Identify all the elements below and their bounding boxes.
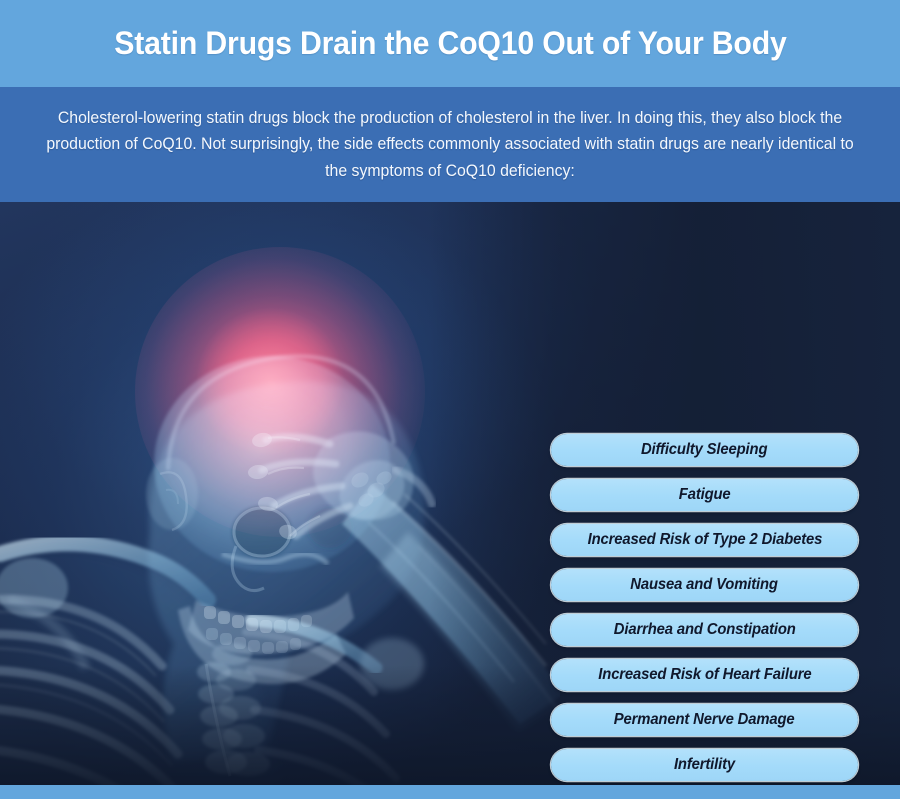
infographic-root: Statin Drugs Drain the CoQ10 Out of Your… bbox=[0, 0, 900, 799]
symptom-pill[interactable]: Increased Risk of Type 2 Diabetes bbox=[551, 524, 858, 556]
symptom-label: Nausea and Vomiting bbox=[631, 576, 779, 594]
symptom-label: Diarrhea and Constipation bbox=[614, 621, 796, 639]
pain-glow-overlay bbox=[135, 247, 425, 537]
ambient-glow bbox=[0, 202, 560, 785]
symptom-label: Increased Risk of Type 2 Diabetes bbox=[587, 531, 822, 549]
symptom-pill[interactable]: Increased Risk of Heart Failure bbox=[551, 659, 858, 691]
xray-body-figure bbox=[0, 202, 560, 785]
footer-band bbox=[0, 785, 900, 799]
symptom-pill[interactable]: Diarrhea and Constipation bbox=[551, 614, 858, 646]
symptom-label: Permanent Nerve Damage bbox=[614, 711, 795, 729]
subtitle-band: Cholesterol-lowering statin drugs block … bbox=[0, 87, 900, 202]
symptom-pill[interactable]: Difficulty Sleeping bbox=[551, 434, 858, 466]
symptom-pill[interactable]: Fatigue bbox=[551, 479, 858, 511]
subtitle-text: Cholesterol-lowering statin drugs block … bbox=[45, 105, 856, 185]
symptom-pill[interactable]: Permanent Nerve Damage bbox=[551, 704, 858, 736]
symptom-pill[interactable]: Nausea and Vomiting bbox=[551, 569, 858, 601]
symptom-label: Fatigue bbox=[679, 486, 731, 504]
header-band: Statin Drugs Drain the CoQ10 Out of Your… bbox=[0, 0, 900, 87]
symptom-list: Difficulty Sleeping Fatigue Increased Ri… bbox=[551, 434, 858, 785]
symptom-pill[interactable]: Infertility bbox=[551, 749, 858, 781]
pain-glow-core bbox=[195, 307, 345, 457]
symptom-label: Difficulty Sleeping bbox=[641, 441, 767, 459]
symptom-label: Infertility bbox=[674, 756, 735, 774]
illustration-area: Difficulty Sleeping Fatigue Increased Ri… bbox=[0, 202, 900, 785]
page-title: Statin Drugs Drain the CoQ10 Out of Your… bbox=[114, 25, 786, 62]
symptom-label: Increased Risk of Heart Failure bbox=[598, 666, 811, 684]
